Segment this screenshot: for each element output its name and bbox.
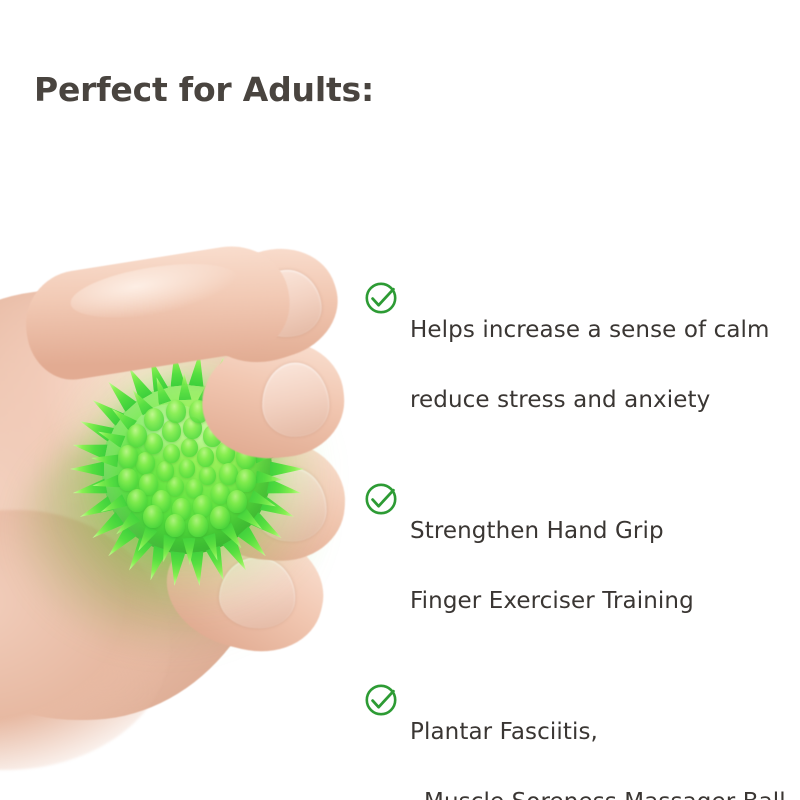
list-item-line: Finger Exerciser Training xyxy=(410,584,694,619)
list-item-line: Helps increase a sense of calm xyxy=(410,313,770,348)
list-item: Plantar Fasciitis, Muscle Soreness Massa… xyxy=(364,680,794,800)
list-item-text: Helps increase a sense of calm reduce st… xyxy=(410,278,770,453)
list-item-line: Strengthen Hand Grip xyxy=(410,514,694,549)
list-item-text: Plantar Fasciitis, Muscle Soreness Massa… xyxy=(410,680,786,800)
check-circle-icon xyxy=(364,482,398,516)
check-circle-icon xyxy=(364,683,398,717)
page-title: Perfect for Adults: xyxy=(34,70,374,109)
product-photo-hand-with-massage-ball xyxy=(0,230,370,800)
list-item-line: Muscle Soreness Massager Ball xyxy=(410,785,786,800)
list-item-line: Plantar Fasciitis, xyxy=(410,715,786,750)
check-circle-icon xyxy=(364,281,398,315)
product-feature-card: Perfect for Adults: xyxy=(0,0,800,800)
list-item-line: reduce stress and anxiety xyxy=(410,383,770,418)
list-item-text: Strengthen Hand Grip Finger Exerciser Tr… xyxy=(410,479,694,654)
benefits-list: Helps increase a sense of calm reduce st… xyxy=(364,278,794,800)
list-item: Strengthen Hand Grip Finger Exerciser Tr… xyxy=(364,479,794,654)
list-item: Helps increase a sense of calm reduce st… xyxy=(364,278,794,453)
fingernail xyxy=(260,362,329,439)
